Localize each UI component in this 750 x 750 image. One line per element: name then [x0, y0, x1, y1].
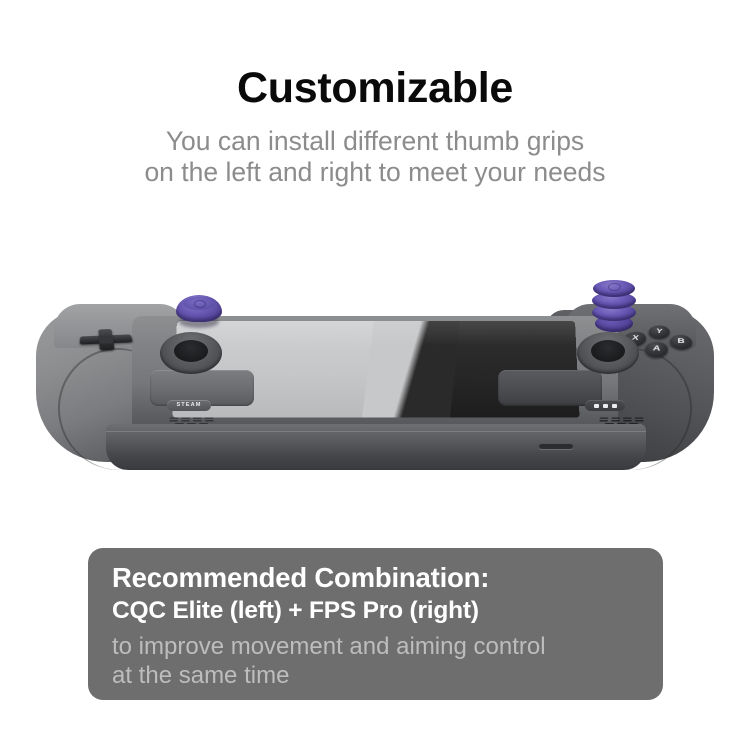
left-thumbstick-base	[160, 332, 222, 374]
subtitle-line-1: You can install different thumb grips	[0, 126, 750, 157]
grille-row	[163, 417, 220, 418]
subtitle-line-2: on the left and right to meet your needs	[0, 157, 750, 188]
page-title: Customizable	[0, 66, 750, 111]
button-y: Y	[647, 325, 670, 340]
fps-grip-texture	[608, 283, 621, 291]
recommendation-title: Recommended Combination:	[112, 562, 639, 594]
recommendation-combination: CQC Elite (left) + FPS Pro (right)	[112, 596, 639, 625]
page-subtitle: You can install different thumb grips on…	[0, 126, 750, 189]
steam-button: STEAM	[167, 400, 211, 411]
quick-access-menu-button	[585, 400, 625, 411]
recommendation-detail: to improve movement and aiming control a…	[112, 633, 639, 691]
qam-dot-3	[612, 404, 617, 408]
right-thumb-grip-fps-pro	[592, 280, 636, 332]
product-image: Y X B A STEAM	[0, 238, 750, 488]
qam-dot-1	[594, 404, 599, 408]
button-a: A	[643, 341, 668, 359]
left-thumb-grip-cqc-elite	[176, 295, 222, 328]
qam-dot-2	[603, 404, 608, 408]
grille-row	[593, 417, 650, 418]
recommendation-callout: Recommended Combination: CQC Elite (left…	[88, 548, 663, 700]
grille-row	[592, 420, 650, 421]
right-thumbstick-base	[577, 332, 639, 374]
dpad	[79, 328, 135, 351]
steam-deck-device: Y X B A STEAM	[36, 274, 714, 464]
recommendation-detail-line-2: at the same time	[112, 662, 639, 691]
microsd-slot	[539, 444, 573, 449]
recommendation-detail-line-1: to improve movement and aiming control	[112, 633, 639, 662]
button-b: B	[669, 334, 692, 350]
steam-button-label: STEAM	[167, 400, 211, 411]
grille-row	[162, 420, 220, 421]
cqc-grip-texture	[194, 300, 206, 308]
screen-glare	[176, 321, 576, 346]
header-block: Customizable You can install different t…	[0, 66, 750, 189]
